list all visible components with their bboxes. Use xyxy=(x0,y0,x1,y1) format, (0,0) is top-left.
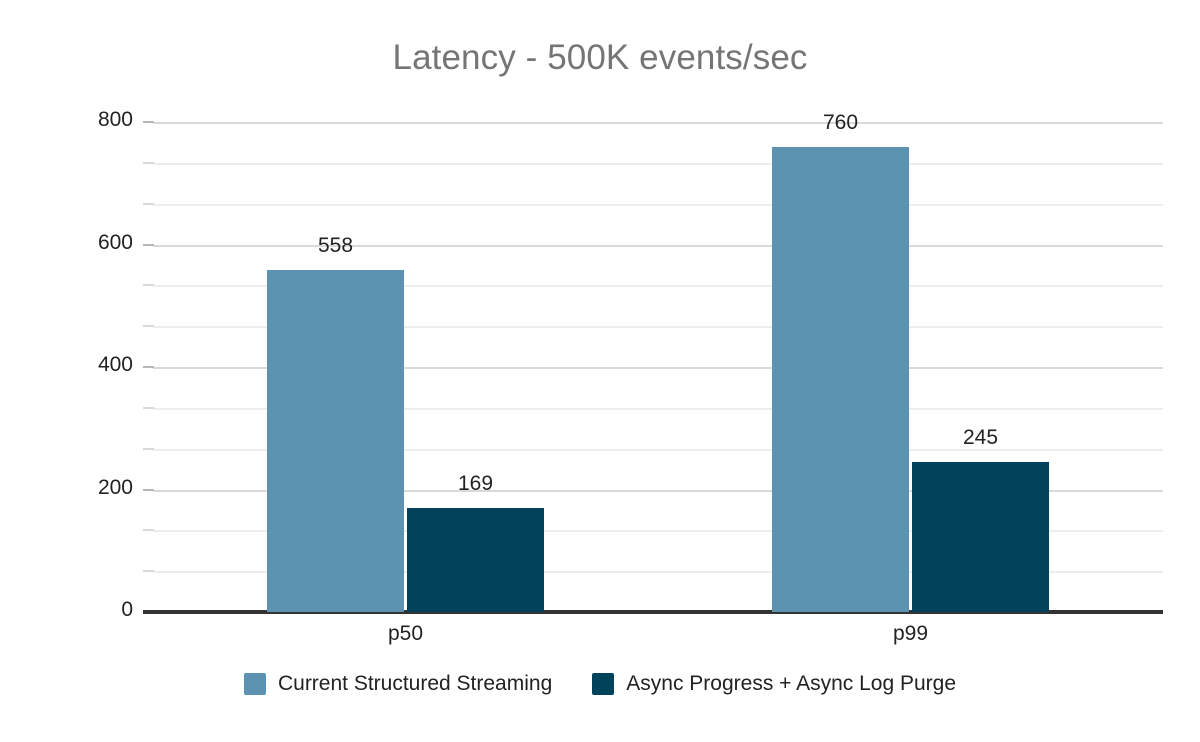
y-axis-tick-mark xyxy=(143,489,154,491)
legend-label: Current Structured Streaming xyxy=(278,672,552,696)
y-axis-tick-label: 600 xyxy=(73,231,133,255)
y-axis-tick-label: 400 xyxy=(73,353,133,377)
bar[interactable] xyxy=(772,147,909,613)
y-axis-tick-label: 200 xyxy=(73,476,133,500)
chart-title: Latency - 500K events/sec xyxy=(0,38,1200,78)
y-axis-tick-label: 0 xyxy=(73,598,133,622)
y-axis-tick-label: 800 xyxy=(73,108,133,132)
legend-swatch-icon xyxy=(592,673,614,695)
bar-value-label: 245 xyxy=(912,426,1049,450)
y-axis-tick-mark-minor xyxy=(143,570,154,572)
bar-value-label: 558 xyxy=(267,234,404,258)
y-axis-tick-mark-minor xyxy=(143,529,154,531)
bar[interactable] xyxy=(407,508,544,612)
y-axis-tick-mark-minor xyxy=(143,162,154,164)
bar[interactable] xyxy=(912,462,1049,612)
legend-item[interactable]: Current Structured Streaming xyxy=(244,672,552,696)
x-axis-tick-label: p99 xyxy=(851,622,971,646)
gridline-major xyxy=(153,122,1163,124)
y-axis-tick-mark xyxy=(143,121,154,123)
chart-legend: Current Structured StreamingAsync Progre… xyxy=(0,672,1200,696)
y-axis-tick-mark xyxy=(143,610,154,614)
legend-swatch-icon xyxy=(244,673,266,695)
bar[interactable] xyxy=(267,270,404,612)
gridline-minor xyxy=(153,204,1163,206)
bar-value-label: 169 xyxy=(407,472,544,496)
y-axis-tick-mark xyxy=(143,244,154,246)
y-axis-tick-mark xyxy=(143,366,154,368)
y-axis-tick-mark-minor xyxy=(143,407,154,409)
gridline-minor xyxy=(153,163,1163,165)
y-axis-tick-mark-minor xyxy=(143,284,154,286)
legend-item[interactable]: Async Progress + Async Log Purge xyxy=(592,672,956,696)
y-axis-tick-mark-minor xyxy=(143,448,154,450)
bar-value-label: 760 xyxy=(772,111,909,135)
y-axis-tick-mark-minor xyxy=(143,203,154,205)
legend-label: Async Progress + Async Log Purge xyxy=(626,672,956,696)
y-axis-tick-mark-minor xyxy=(143,325,154,327)
x-axis-tick-label: p50 xyxy=(346,622,466,646)
bar-chart: Latency - 500K events/sec end to end lat… xyxy=(0,0,1200,742)
